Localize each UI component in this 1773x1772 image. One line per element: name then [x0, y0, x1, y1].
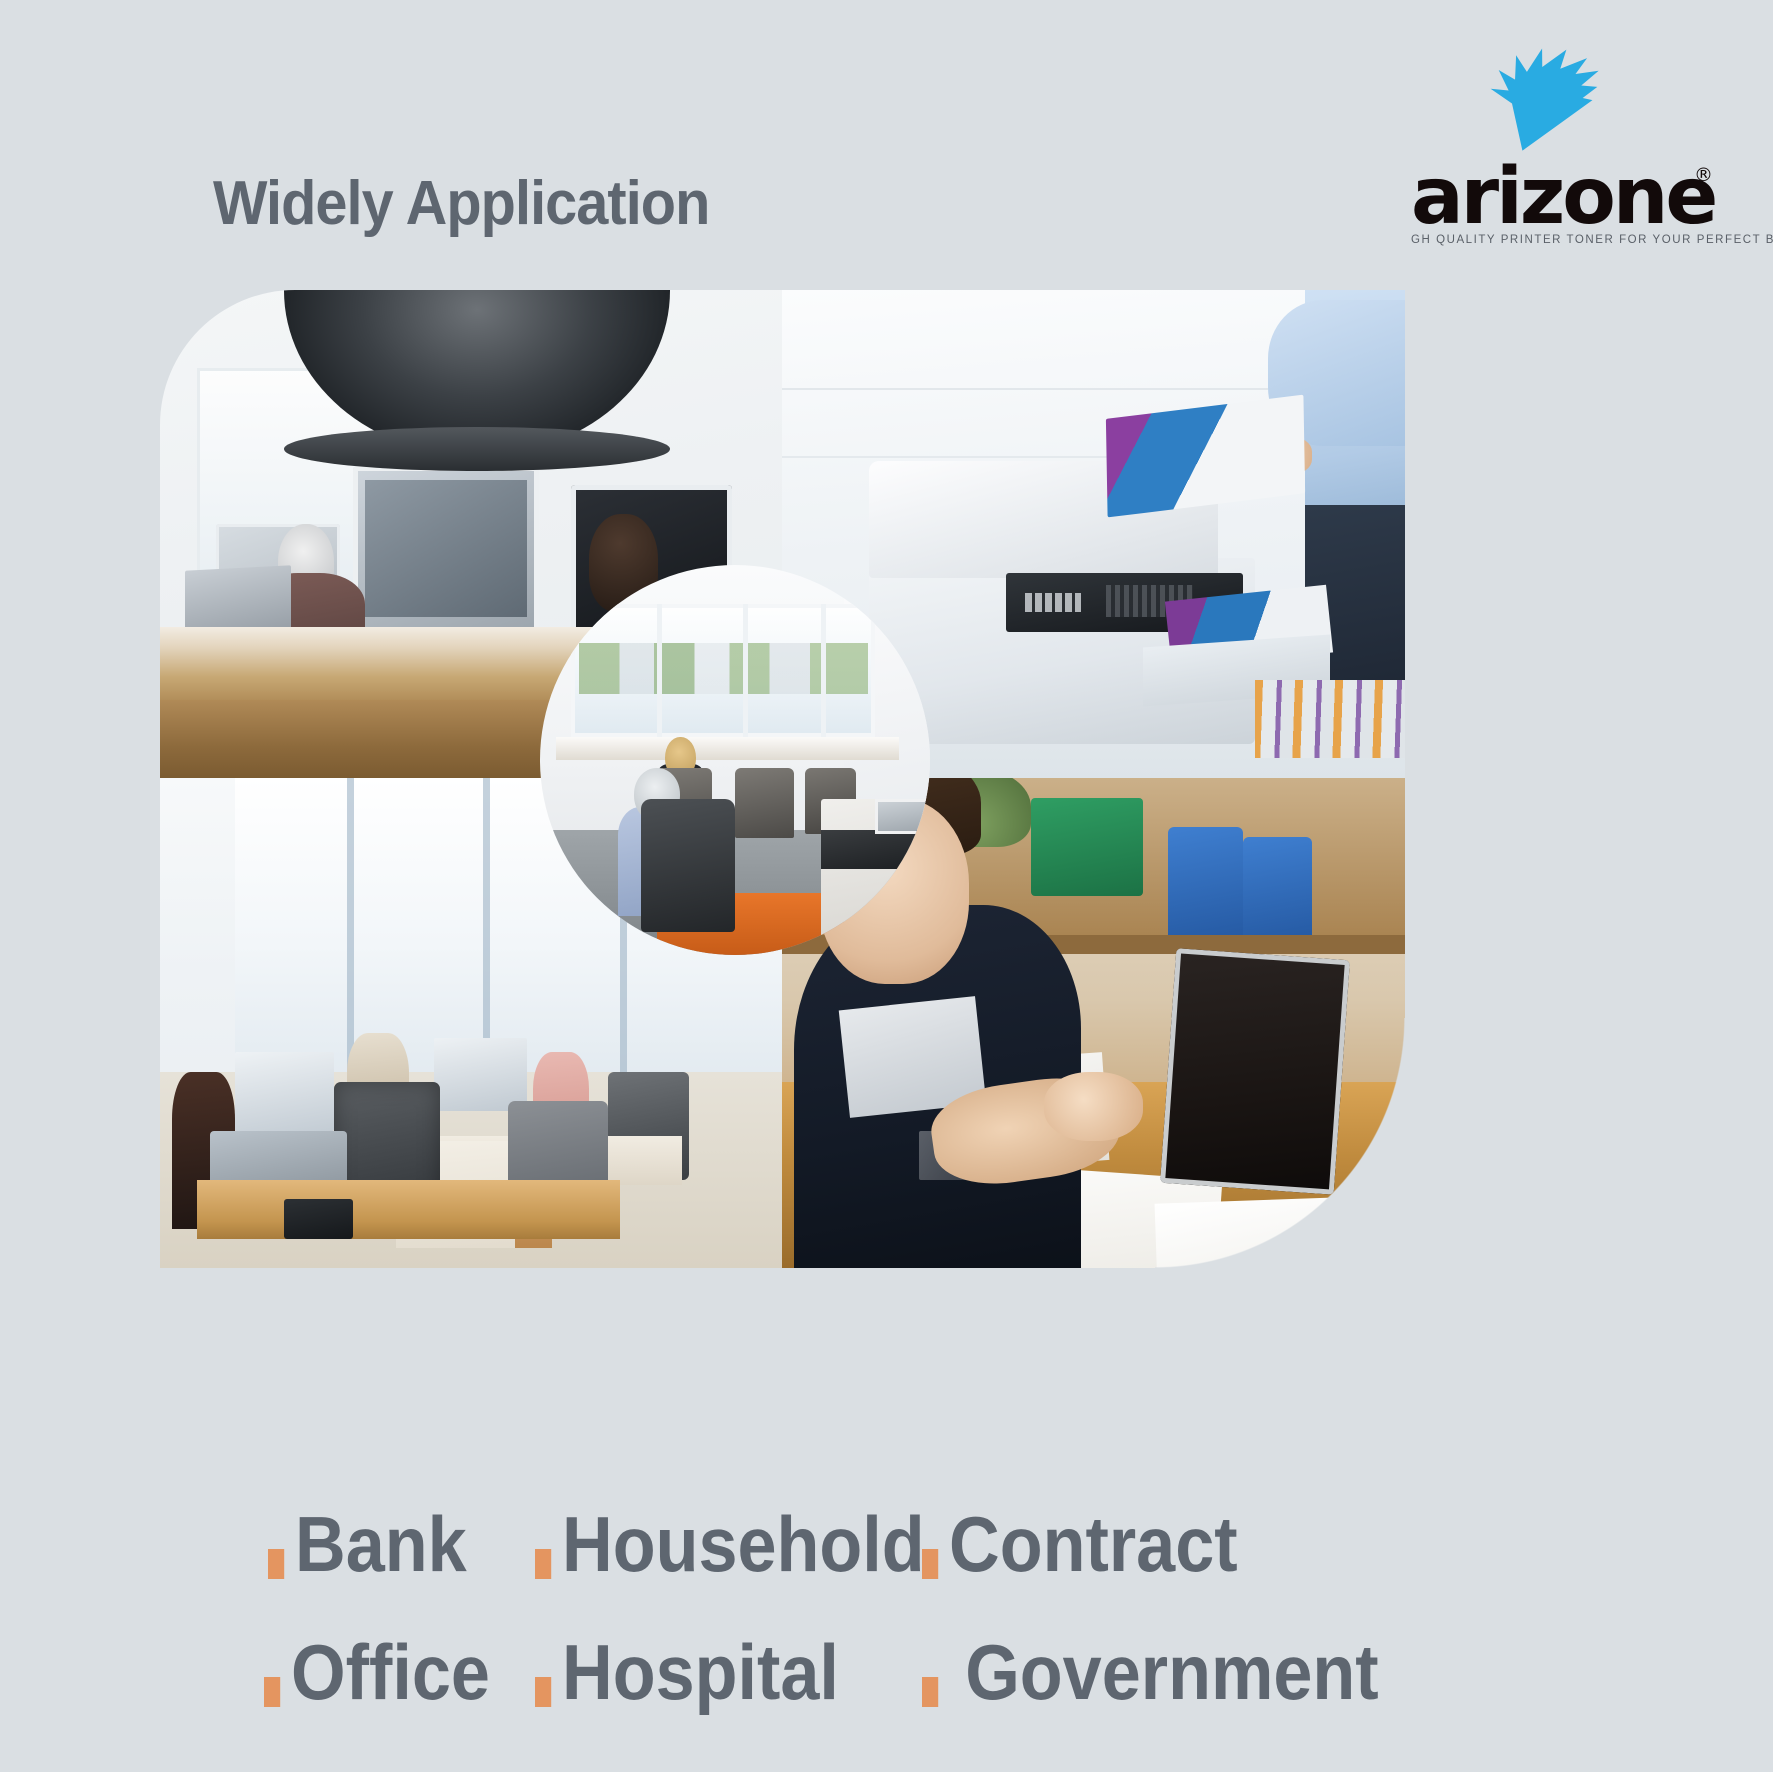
application-row-1: Bank Household Contract — [0, 1455, 1773, 1583]
bullet-square-icon — [535, 1549, 551, 1579]
application-row-2: Office Hospital Government — [0, 1583, 1773, 1711]
bullet-square-icon — [535, 1677, 551, 1707]
application-item-household: Household — [535, 1505, 925, 1583]
application-item-office: Office — [264, 1633, 490, 1711]
bullet-square-icon — [922, 1549, 938, 1579]
brand-tagline: GH QUALITY PRINTER TONER FOR YOUR PERFEC… — [1411, 234, 1711, 246]
application-label: Household — [562, 1505, 925, 1583]
bullet-square-icon — [268, 1549, 284, 1579]
application-item-bank: Bank — [268, 1505, 467, 1583]
application-item-contract: Contract — [922, 1505, 1238, 1583]
application-list: Bank Household Contract Office Hospital — [0, 1455, 1773, 1711]
registered-mark: ® — [1694, 164, 1713, 186]
collage-corner-rounding — [1155, 1018, 1405, 1268]
bullet-square-icon — [264, 1677, 280, 1707]
poster-canvas: Widely Application arizone ® GH QUALITY … — [0, 0, 1773, 1772]
application-label: Office — [291, 1633, 490, 1711]
photo-circle-copier-office — [540, 565, 930, 955]
application-label: Government — [965, 1633, 1378, 1711]
application-item-hospital: Hospital — [535, 1633, 839, 1711]
application-item-government: Government — [922, 1633, 1379, 1711]
bird-wing-icon — [1455, 48, 1615, 158]
application-label: Contract — [949, 1505, 1238, 1583]
page-title: Widely Application — [213, 168, 709, 239]
application-label: Hospital — [562, 1633, 839, 1711]
application-label: Bank — [295, 1505, 467, 1583]
brand-wordmark: arizone — [1411, 158, 1711, 236]
brand-logo: arizone ® GH QUALITY PRINTER TONER FOR Y… — [1411, 48, 1711, 243]
bullet-square-icon — [922, 1677, 938, 1707]
